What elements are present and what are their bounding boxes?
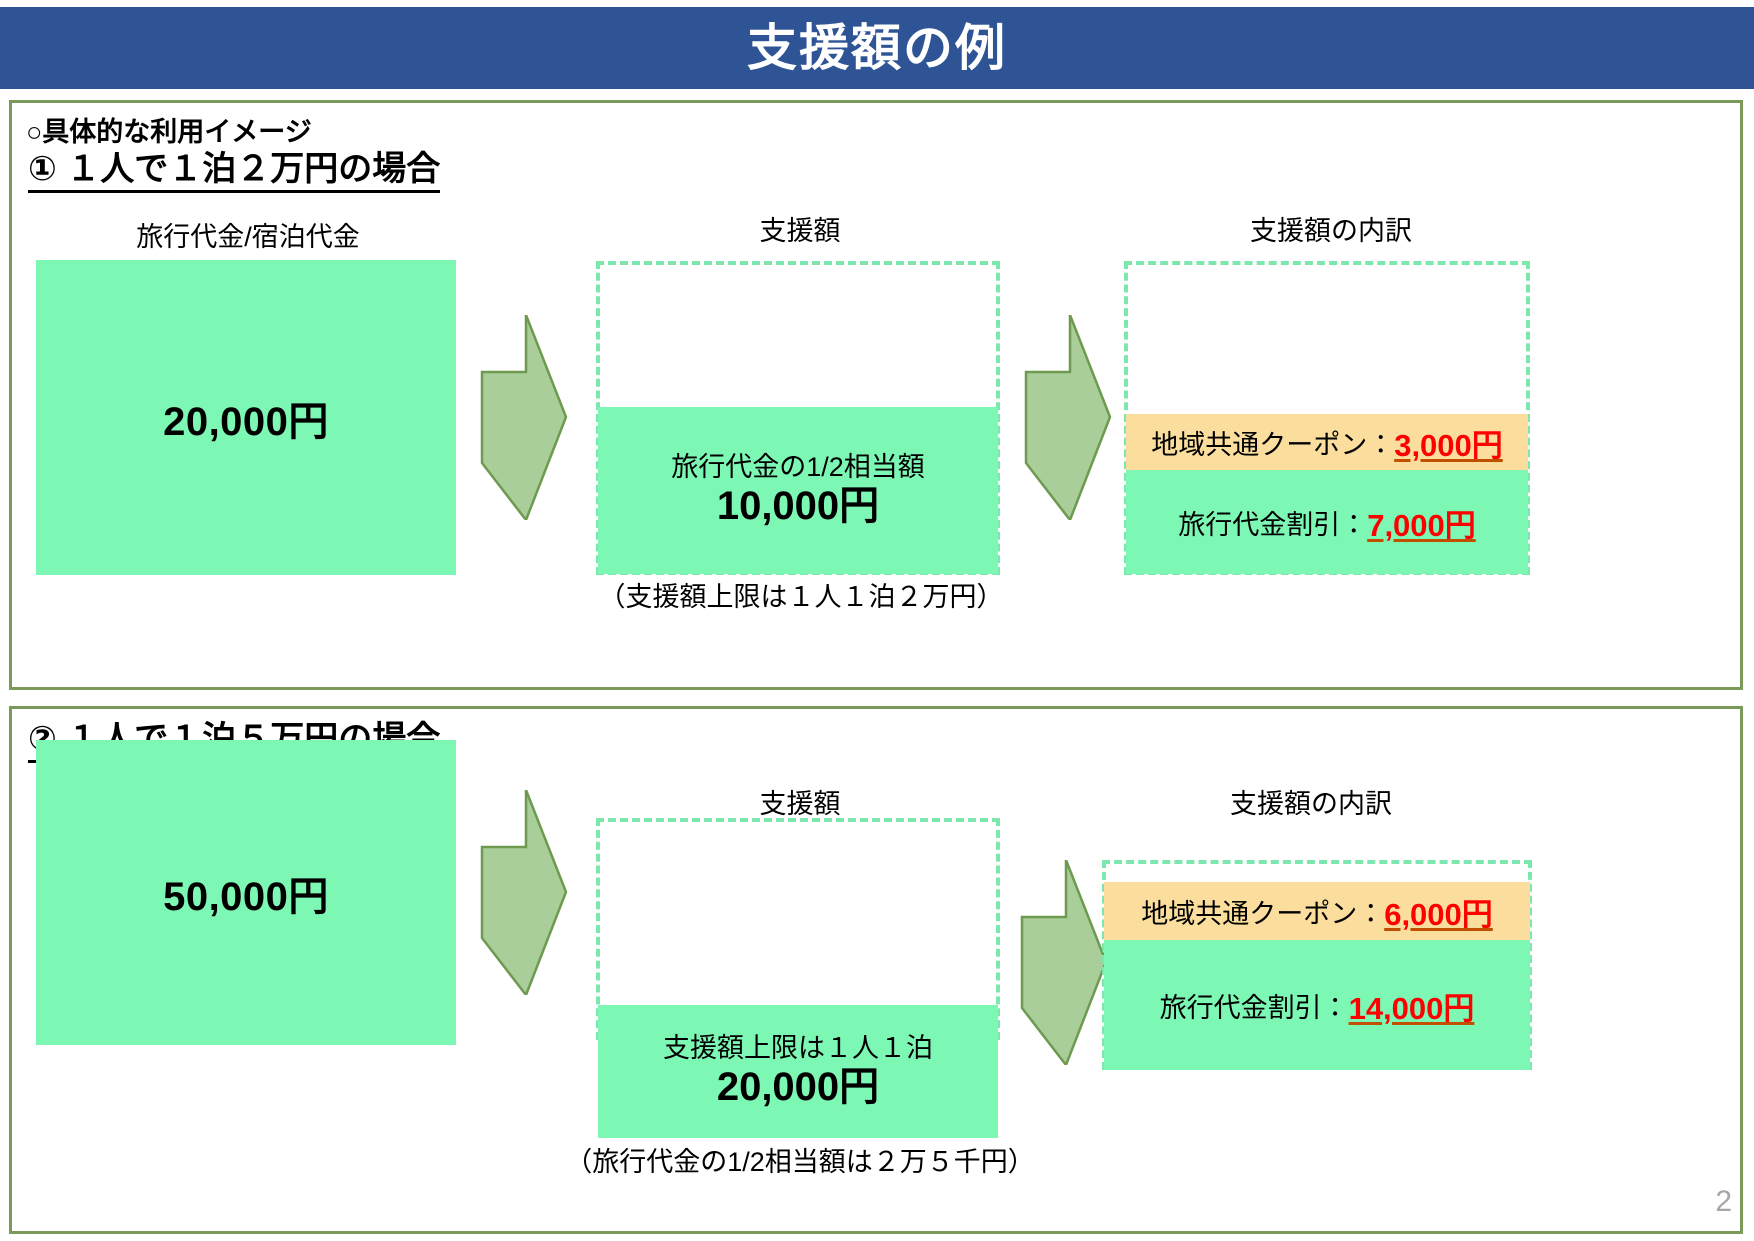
case-1-breakdown-coupon: 地域共通クーポン： 3,000円	[1126, 414, 1528, 470]
case-1-price-box: 20,000円	[36, 260, 456, 575]
case-2-note: （旅行代金の1/2相当額は２万５千円）	[560, 1140, 1040, 1179]
arrow-right-icon	[1008, 860, 1108, 1070]
case-1-note: （支援額上限は１人１泊２万円）	[596, 575, 1006, 614]
case-1-subsidy-fill: 旅行代金の1/2相当額 10,000円	[598, 407, 998, 574]
case-2-subsidy-line2: 20,000円	[717, 1064, 879, 1110]
case-1-coupon-amount: 3,000円	[1394, 420, 1503, 465]
arrow-right-icon	[468, 315, 568, 525]
title-banner: 支援額の例	[0, 7, 1754, 89]
case-2-subsidy-caption: 支援額	[600, 782, 1000, 821]
case-1-price-caption: 旅行代金/宿泊代金	[38, 215, 458, 254]
case-1-breakdown-caption: 支援額の内訳	[1128, 209, 1534, 248]
case-1-subsidy-caption: 支援額	[600, 209, 1000, 248]
case-2-discount-label: 旅行代金割引：	[1160, 986, 1349, 1025]
case-1-price-amount: 20,000円	[163, 389, 329, 447]
case-1-breakdown-discount: 旅行代金割引： 7,000円	[1126, 470, 1528, 574]
case-2-breakdown-caption: 支援額の内訳	[1108, 782, 1514, 821]
case-2-price-amount: 50,000円	[163, 864, 329, 922]
arrow-right-icon	[468, 790, 568, 1000]
case-2-coupon-label: 地域共通クーポン：	[1141, 892, 1384, 931]
case-2-breakdown-discount: 旅行代金割引： 14,000円	[1104, 940, 1530, 1070]
arrow-right-icon	[1012, 315, 1112, 525]
page-title: 支援額の例	[747, 23, 1007, 73]
lead-text: ○具体的な利用イメージ	[26, 110, 312, 149]
page-number: 2	[1715, 1185, 1732, 1219]
case-2-price-box: 50,000円	[36, 740, 456, 1045]
case-1-discount-label: 旅行代金割引：	[1178, 503, 1367, 542]
case-2-breakdown-coupon: 地域共通クーポン： 6,000円	[1104, 882, 1530, 940]
case-1-discount-amount: 7,000円	[1367, 500, 1476, 545]
case-2-subsidy-fill: 支援額上限は１人１泊 20,000円	[598, 1005, 998, 1138]
case-1-subsidy-line2: 10,000円	[717, 483, 879, 529]
case-1-coupon-label: 地域共通クーポン：	[1151, 423, 1394, 462]
case-1-heading: ① １人で１泊２万円の場合	[28, 150, 440, 193]
case-2-coupon-amount: 6,000円	[1384, 889, 1493, 934]
case-2-discount-amount: 14,000円	[1349, 983, 1475, 1028]
case-1-subsidy-line1: 旅行代金の1/2相当額	[671, 452, 925, 483]
case-2-subsidy-line1: 支援額上限は１人１泊	[663, 1033, 933, 1064]
